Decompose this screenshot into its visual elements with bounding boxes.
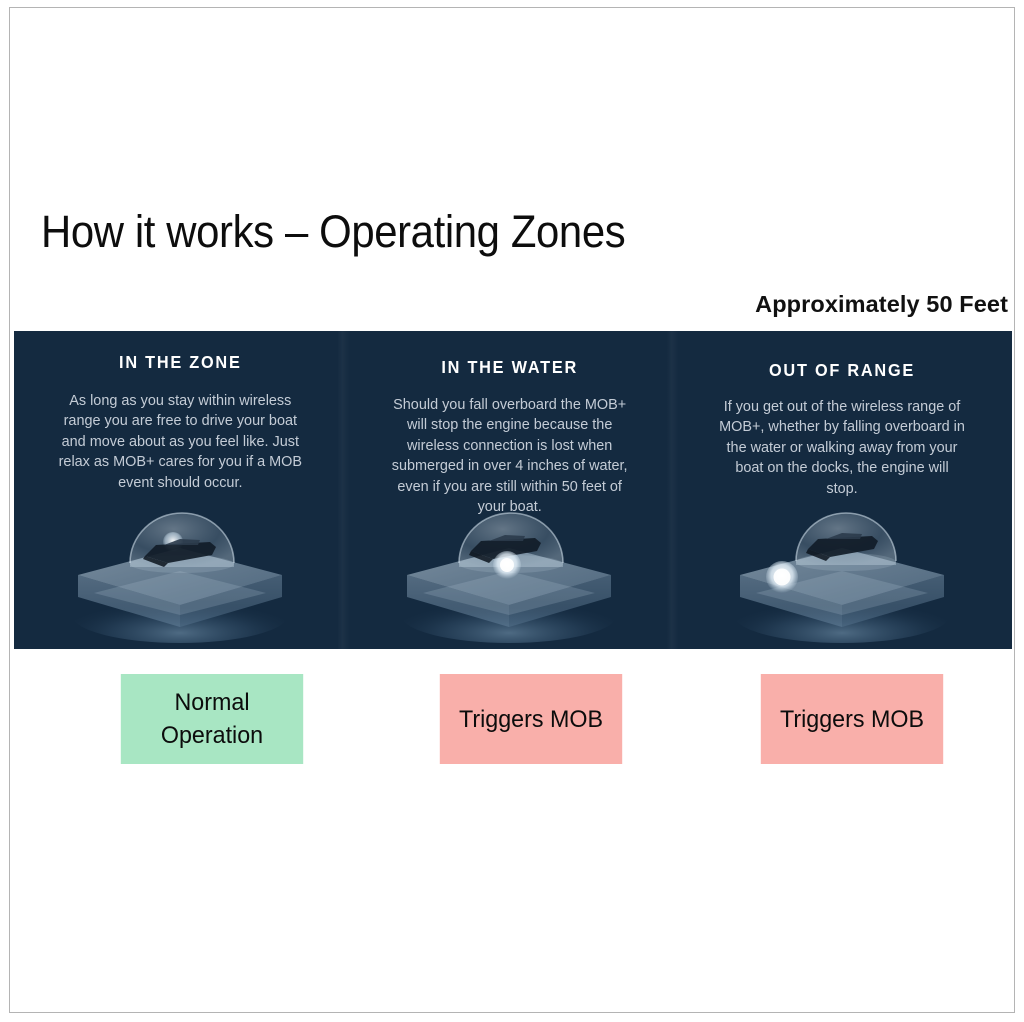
range-callout-label: Approximately 50 Feet — [755, 291, 1008, 318]
zone-heading-in-the-water: IN THE WATER — [358, 357, 661, 378]
zone-body-out-of-range: If you get out of the wireless range of … — [680, 397, 1003, 499]
outcome-label: Triggers MOB — [780, 703, 924, 736]
slide-frame: How it works – Operating Zones Approxima… — [9, 7, 1015, 1013]
outcome-box-triggers-mob-range: Triggers MOB — [761, 674, 943, 764]
zone-heading-in-the-zone: IN THE ZONE — [26, 352, 335, 373]
operating-zones-banner: IN THE ZONE As long as you stay within w… — [14, 331, 1012, 649]
person-outside-range-dome-icon — [722, 493, 962, 643]
zone-panel-in-the-zone: IN THE ZONE As long as you stay within w… — [14, 331, 347, 649]
outcome-box-triggers-mob-water: Triggers MOB — [440, 674, 622, 764]
person-submerged-under-boat-icon — [389, 493, 629, 643]
zone-heading-out-of-range: OUT OF RANGE — [684, 360, 1000, 381]
boat-inside-range-dome-icon — [60, 493, 300, 643]
outcome-box-normal-operation: Normal Operation — [121, 674, 303, 764]
page-title: How it works – Operating Zones — [41, 206, 625, 258]
zone-panel-out-of-range: OUT OF RANGE If you get out of the wirel… — [672, 331, 1012, 649]
outcome-label: Triggers MOB — [459, 703, 603, 736]
zone-body-in-the-zone: As long as you stay within wireless rang… — [22, 391, 338, 493]
zone-panel-in-the-water: IN THE WATER Should you fall overboard t… — [347, 331, 672, 649]
outcome-label: Normal Operation — [121, 686, 303, 752]
